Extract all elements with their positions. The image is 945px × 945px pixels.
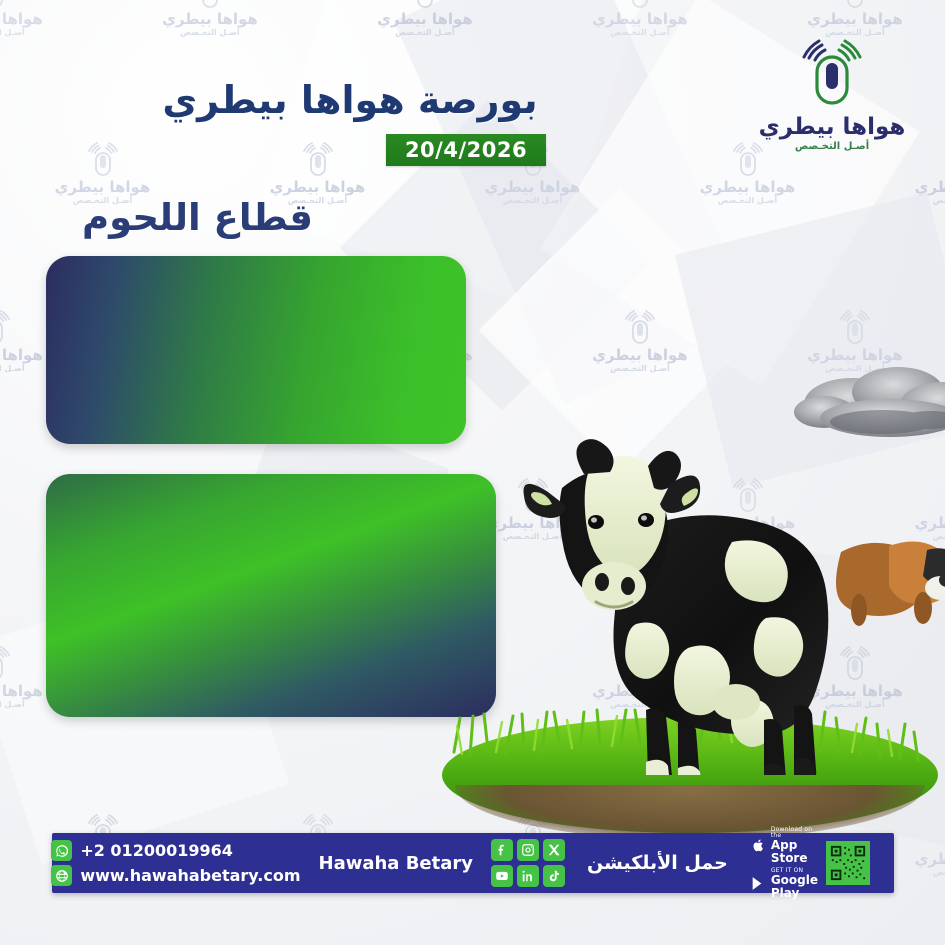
- brand-tagline: أصـل التخـصص: [742, 141, 922, 152]
- qr-code[interactable]: [826, 841, 870, 885]
- app-store-badges: Download on the App Store GET IT ON Goog…: [750, 827, 818, 899]
- holstein-cow-photo: [518, 410, 848, 775]
- google-play-badge[interactable]: GET IT ON Google Play: [750, 868, 818, 899]
- brand-name: هواها بيطري: [742, 114, 922, 140]
- linkedin-icon[interactable]: [517, 865, 539, 887]
- phone-number: +2 01200019964: [80, 841, 233, 860]
- globe-icon: [51, 865, 72, 886]
- google-play-label: Google Play: [771, 874, 818, 899]
- app-store-badge[interactable]: Download on the App Store: [750, 827, 818, 865]
- contact-info: +2 01200019964 www.hawahabetary.com: [51, 840, 300, 886]
- footer-bar: Download on the App Store GET IT ON Goog…: [52, 833, 894, 893]
- x-twitter-icon[interactable]: [543, 839, 565, 861]
- date-badge: 20/4/2026: [386, 134, 546, 166]
- infographic-poster: هواها بيطريأصـل التخـصصهواها بيطريأصـل ا…: [0, 0, 945, 945]
- page-title: بورصة هواها بيطري: [0, 78, 700, 122]
- brand-logo: هواها بيطري أصـل التخـصص: [742, 32, 922, 152]
- facebook-icon[interactable]: [491, 839, 513, 861]
- whatsapp-icon: [51, 840, 72, 861]
- google-play-icon: [750, 875, 766, 892]
- youtube-icon[interactable]: [491, 865, 513, 887]
- social-links: [491, 839, 565, 887]
- fingerprint-signal-icon: [797, 32, 867, 110]
- livestock-scene: [430, 330, 945, 850]
- download-app-cta: حمل الأبلكيشن: [587, 852, 728, 874]
- brand-name-english: Hawaha Betary: [319, 853, 474, 874]
- section-title: قطاع اللحوم: [0, 196, 395, 239]
- phone-row[interactable]: +2 01200019964: [51, 840, 300, 861]
- app-store-label: App Store: [771, 839, 818, 864]
- cattle-panel: [46, 256, 466, 444]
- apple-icon: [750, 837, 766, 854]
- poster-header: بورصة هواها بيطري 20/4/2026: [0, 0, 945, 185]
- tiktok-icon[interactable]: [543, 865, 565, 887]
- instagram-icon[interactable]: [517, 839, 539, 861]
- buffalo-panel: [46, 474, 496, 717]
- website-row[interactable]: www.hawahabetary.com: [51, 865, 300, 886]
- website-url: www.hawahabetary.com: [80, 866, 300, 885]
